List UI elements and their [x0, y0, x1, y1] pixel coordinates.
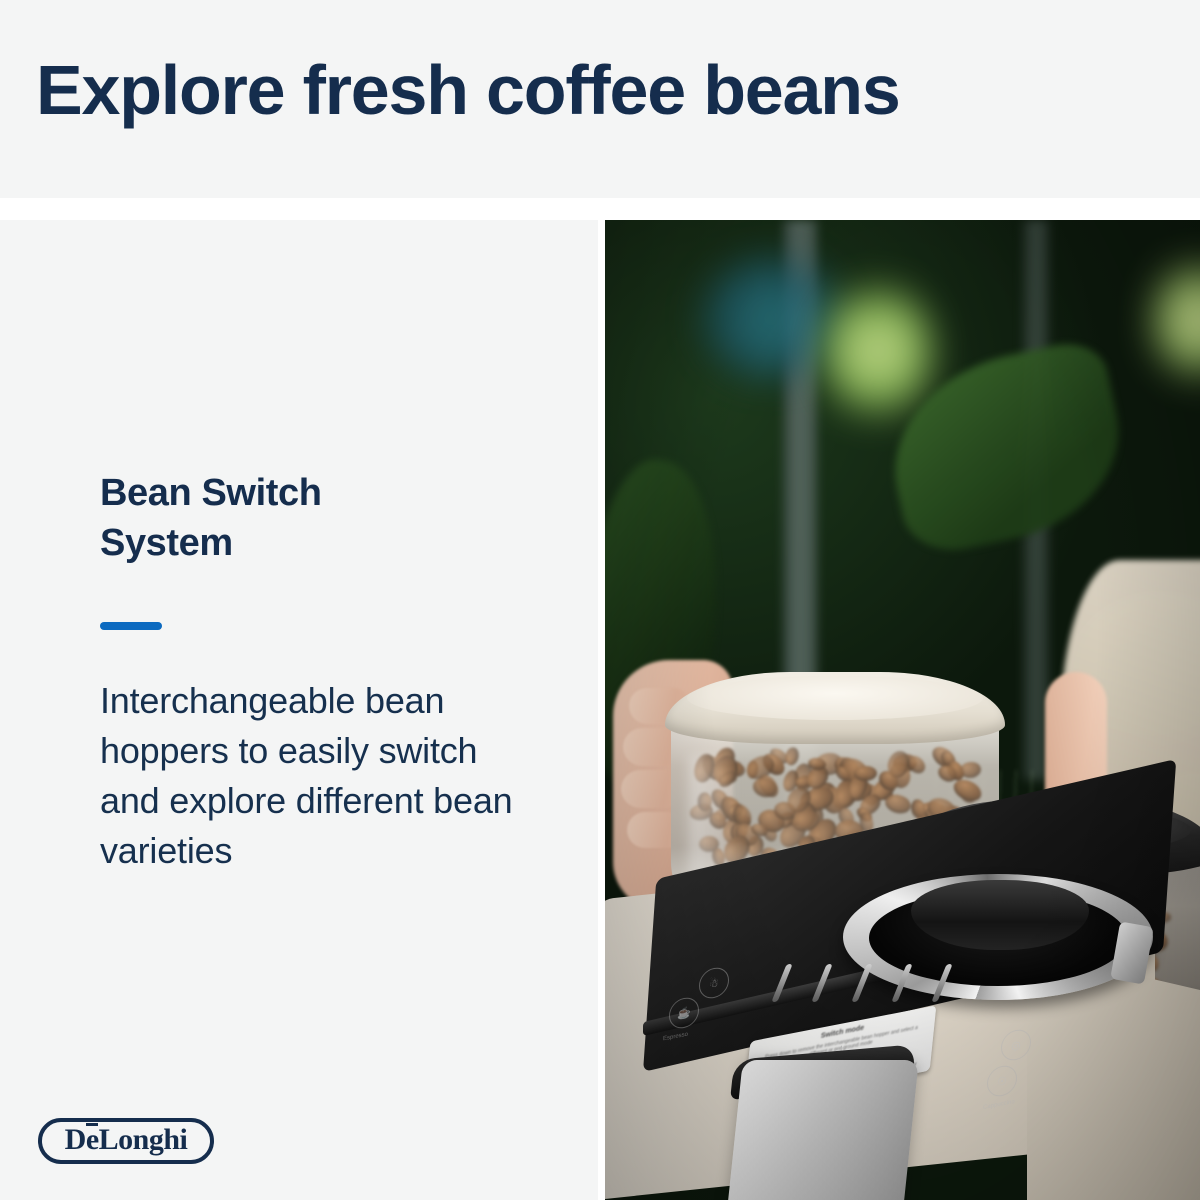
feature-body-text: Interchangeable bean hoppers to easily s…	[100, 676, 520, 876]
hopper-light-lid	[665, 672, 1005, 744]
page-root: Explore fresh coffee beans Bean Switch S…	[0, 0, 1200, 1200]
grinder-prongs	[773, 958, 993, 1002]
logo-d: D	[65, 1123, 86, 1156]
logo-longhi: Longhi	[99, 1123, 188, 1156]
hopper-light-lid-top	[687, 676, 983, 720]
espresso-machine: ☃ ☕ ◎ ☉ Espresso Cappuccino Switch mode …	[605, 870, 1200, 1200]
delonghi-wordmark: DeLonghi	[65, 1125, 188, 1155]
accent-divider-bar	[100, 622, 162, 630]
coffee-spout	[727, 1060, 919, 1200]
feature-heading: Bean Switch System	[100, 468, 520, 568]
left-text-panel: Bean Switch System Interchangeable bean …	[0, 220, 598, 1200]
page-title: Explore fresh coffee beans	[36, 47, 900, 133]
window-light-teal	[701, 258, 841, 378]
product-photo: ☉	[605, 220, 1200, 1200]
window-light-left	[823, 276, 933, 426]
content-row: Bean Switch System Interchangeable bean …	[0, 220, 1200, 1200]
header-band: Explore fresh coffee beans	[0, 0, 1200, 198]
feature-block: Bean Switch System Interchangeable bean …	[100, 468, 520, 912]
logo-e-macron: e	[86, 1125, 99, 1155]
delonghi-logo: DeLonghi	[38, 1118, 214, 1164]
